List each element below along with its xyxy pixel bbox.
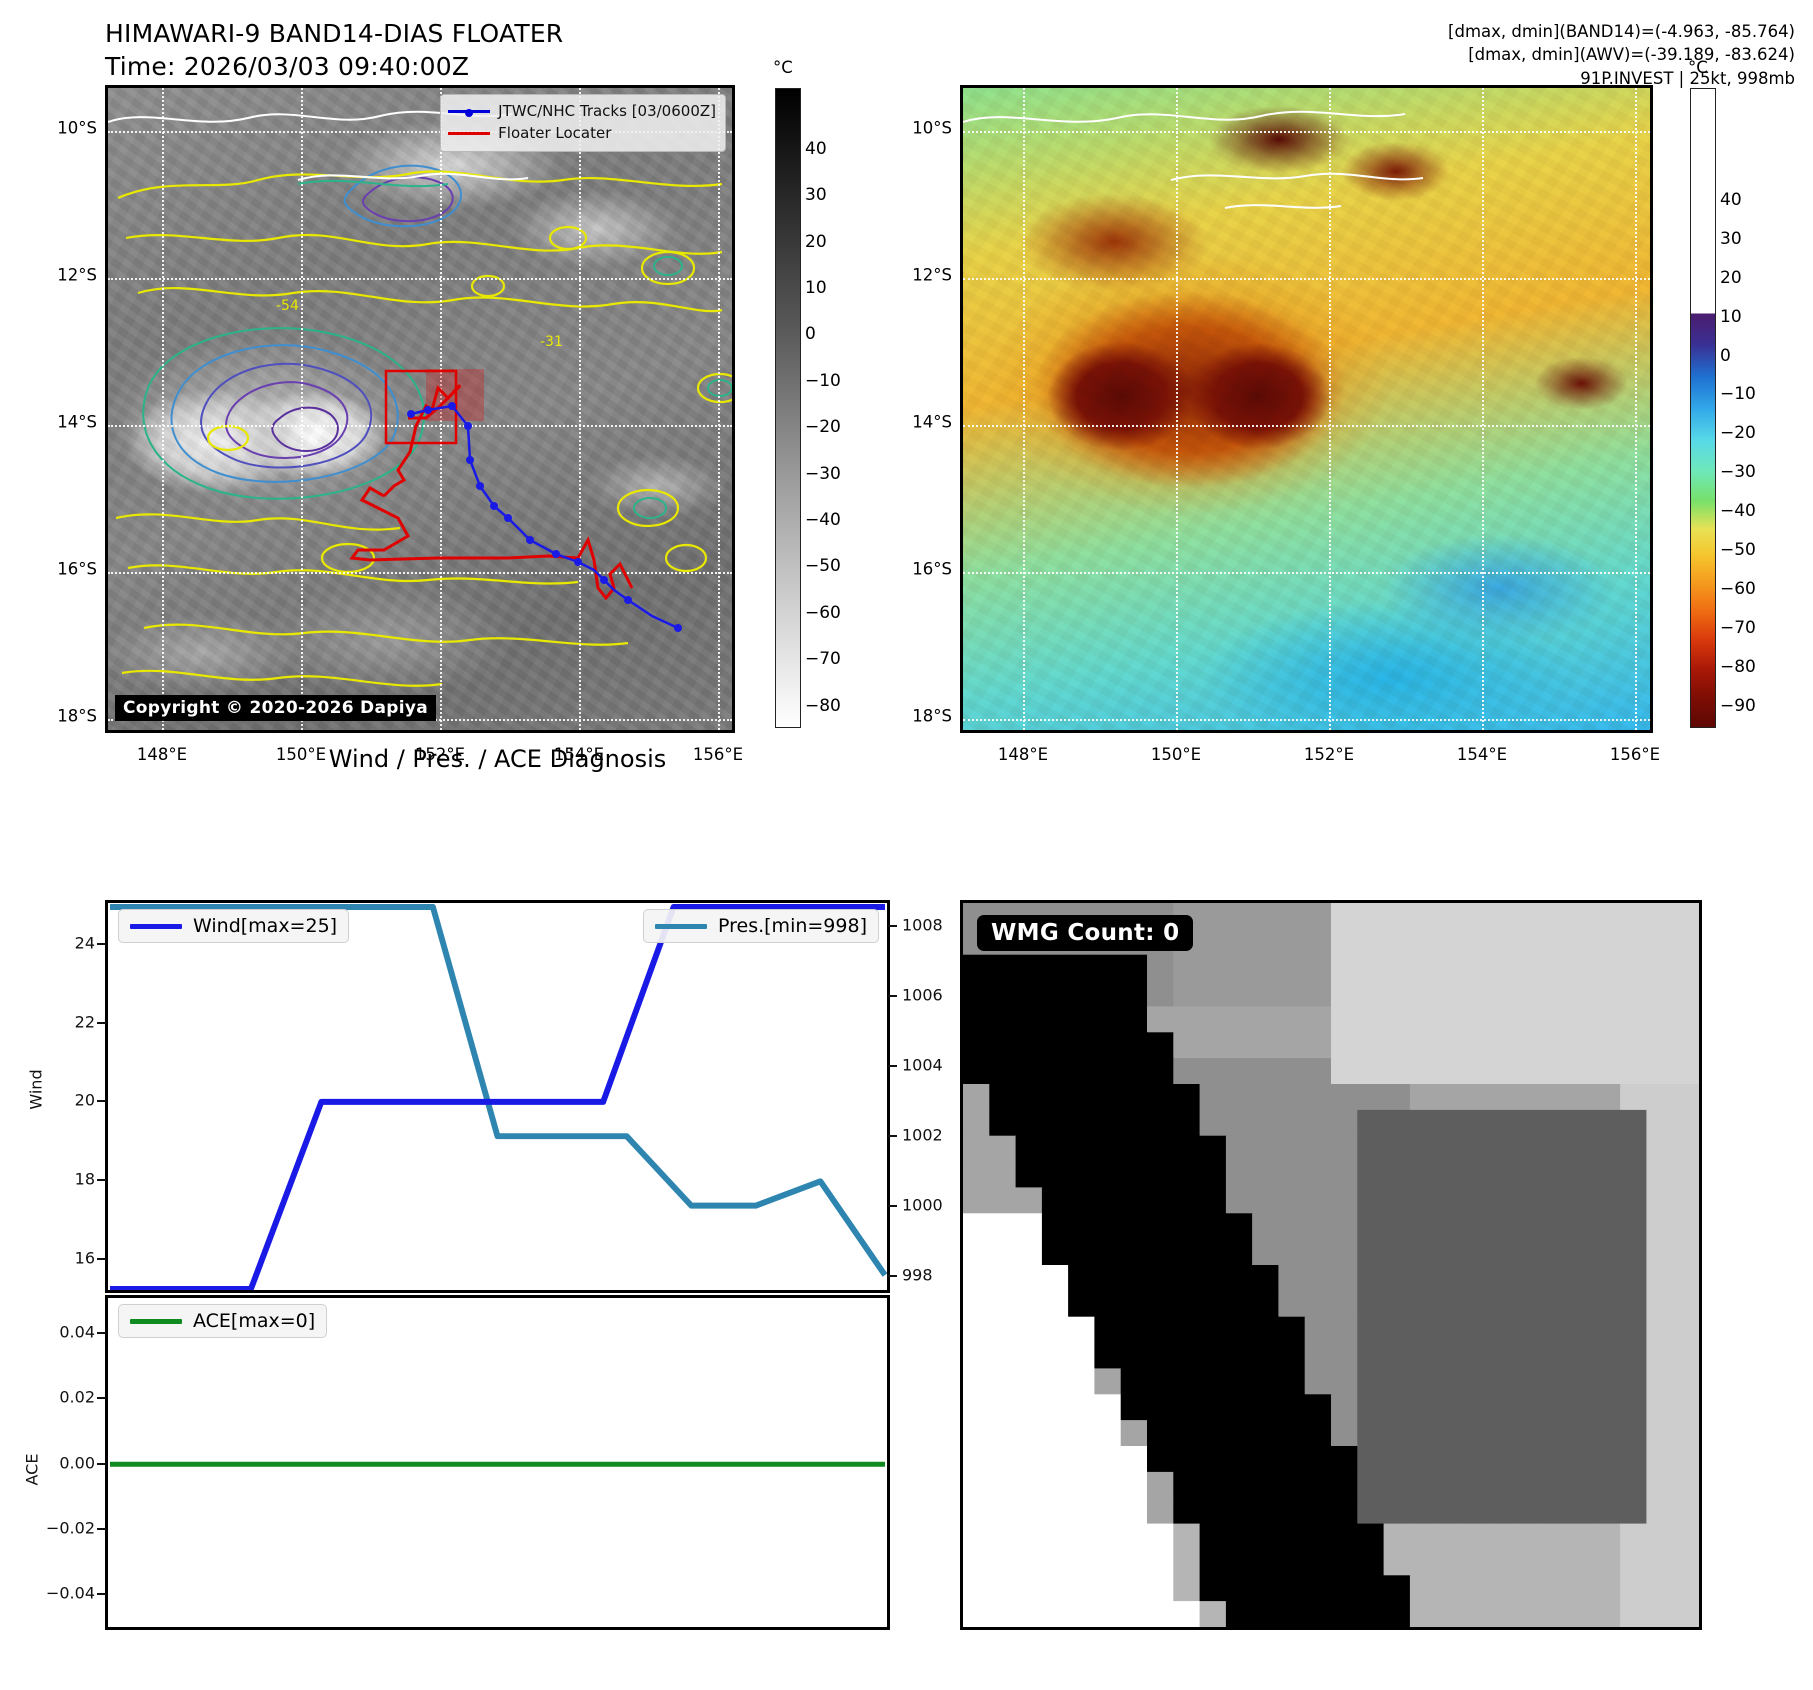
wmg-cell	[1541, 1498, 1568, 1525]
wmg-cell	[1646, 1162, 1673, 1189]
wmg-cell	[1541, 1394, 1568, 1421]
legend-label-tracks: JTWC/NHC Tracks [03/0600Z]	[498, 101, 716, 123]
wmg-cell	[1594, 1110, 1621, 1137]
wmg-cell	[1094, 1239, 1121, 1266]
wmg-cell	[1541, 1239, 1568, 1266]
wmg-cell	[1620, 1317, 1647, 1344]
pressure-tickmark	[888, 1275, 897, 1277]
wmg-cell	[1410, 1136, 1437, 1163]
wmg-cell	[1305, 1239, 1332, 1266]
ace-tickmark	[97, 1397, 106, 1399]
wmg-cell	[1305, 1549, 1332, 1576]
wmg-panel[interactable]: WMG Count: 0	[960, 900, 1702, 1630]
ace-plot[interactable]: ACE[max=0]	[105, 1295, 890, 1630]
track-legend: JTWC/NHC Tracks [03/0600Z] Floater Locat…	[440, 94, 726, 152]
awv-lon-label-4: 156°E	[1610, 745, 1660, 764]
wmg-cell	[1357, 1058, 1384, 1085]
wind-line-icon	[130, 924, 182, 929]
wmg-cell	[1594, 1394, 1621, 1421]
wmg-cell	[1620, 1446, 1647, 1473]
wmg-cell	[1094, 1575, 1121, 1602]
wmg-cell	[1541, 981, 1568, 1008]
wmg-cell	[1673, 1110, 1699, 1137]
wmg-cell	[1357, 1032, 1384, 1059]
wmg-cell	[989, 1420, 1016, 1447]
colorbar-tick: 10	[805, 278, 827, 298]
wmg-cell	[1121, 1368, 1148, 1395]
wmg-cell	[1331, 929, 1358, 956]
wmg-cell	[1410, 1084, 1437, 1111]
copyright-label: Copyright © 2020-2026 Dapiya	[115, 695, 436, 721]
wmg-cell	[1620, 1472, 1647, 1499]
wmg-cell	[1410, 903, 1437, 930]
wmg-cell	[1462, 1032, 1489, 1059]
wmg-cell	[1462, 1291, 1489, 1318]
wmg-cell	[1357, 955, 1384, 982]
wmg-cell	[1278, 1524, 1305, 1551]
blue-track-line-icon	[448, 110, 490, 113]
wmg-cell	[1515, 955, 1542, 982]
wmg-cell	[1384, 903, 1411, 930]
wmg-cell	[989, 1213, 1016, 1240]
wmg-cell	[1094, 955, 1121, 982]
wmg-cell	[1042, 1472, 1069, 1499]
wmg-cell	[1515, 1058, 1542, 1085]
wmg-cell	[1200, 1058, 1227, 1085]
wmg-cell	[1489, 1368, 1516, 1395]
wmg-cell	[1252, 1110, 1279, 1137]
wmg-cell	[963, 1032, 990, 1059]
pressure-tick-label: 1000	[902, 1196, 943, 1215]
wmg-cell	[1384, 1394, 1411, 1421]
wmg-cell	[1278, 1472, 1305, 1499]
colorbar-tick: −20	[1720, 423, 1756, 443]
wmg-cell	[1068, 1187, 1095, 1214]
wmg-cell	[1121, 1291, 1148, 1318]
wmg-cell	[1331, 1291, 1358, 1318]
wmg-cell	[1094, 1524, 1121, 1551]
wmg-cell	[1094, 1213, 1121, 1240]
wmg-cell	[1147, 1265, 1174, 1292]
wmg-cell	[1357, 1368, 1384, 1395]
wmg-cell	[1305, 1472, 1332, 1499]
wmg-cell	[1252, 1291, 1279, 1318]
wmg-cell	[1252, 955, 1279, 982]
wmg-cell	[1068, 981, 1095, 1008]
wmg-cell	[963, 1084, 990, 1111]
wmg-cell	[1515, 981, 1542, 1008]
wmg-cell	[1673, 1265, 1699, 1292]
wmg-cell	[1646, 1472, 1673, 1499]
awv-gridline-lat-12s	[963, 278, 1650, 280]
wmg-cell	[1620, 1239, 1647, 1266]
wmg-cell	[1094, 1084, 1121, 1111]
wmg-cell	[1147, 1575, 1174, 1602]
colorbar-tick: −70	[1720, 618, 1756, 638]
colorbar-tick: −50	[805, 556, 841, 576]
wmg-cell	[1568, 1446, 1595, 1473]
wmg-cell	[1646, 1549, 1673, 1576]
wmg-cell	[1200, 929, 1227, 956]
wmg-cell	[1173, 1187, 1200, 1214]
wmg-cell	[1226, 1575, 1253, 1602]
wmg-cell	[1384, 1524, 1411, 1551]
wind-tick-label: 18	[20, 1170, 95, 1189]
wmg-cell	[1436, 1006, 1463, 1033]
wmg-cell	[1331, 1265, 1358, 1292]
wmg-cell	[1673, 1291, 1699, 1318]
wmg-cell	[1673, 981, 1699, 1008]
wmg-cell	[1436, 1084, 1463, 1111]
wmg-cell	[1200, 1394, 1227, 1421]
ace-tickmark	[97, 1528, 106, 1530]
wmg-cell	[1357, 929, 1384, 956]
wmg-cell	[1173, 1446, 1200, 1473]
wmg-cell	[1094, 1110, 1121, 1137]
wmg-cell	[1489, 955, 1516, 982]
wmg-cell	[1646, 1575, 1673, 1602]
wmg-cell	[1673, 1162, 1699, 1189]
wmg-cell	[1252, 1343, 1279, 1370]
wmg-cell	[1620, 1368, 1647, 1395]
wmg-cell	[1226, 1032, 1253, 1059]
wmg-cell	[1305, 1058, 1332, 1085]
wmg-cell	[1305, 1162, 1332, 1189]
wmg-cell	[1568, 1368, 1595, 1395]
wmg-cell	[1594, 1136, 1621, 1163]
wmg-cell	[1646, 981, 1673, 1008]
wmg-cell	[1068, 1368, 1095, 1395]
wmg-cell	[1673, 1136, 1699, 1163]
wmg-cell	[1515, 1420, 1542, 1447]
wmg-cell	[989, 1317, 1016, 1344]
wmg-cell	[1384, 1162, 1411, 1189]
wmg-cell	[1042, 1291, 1069, 1318]
colorbar-tick: −10	[805, 371, 841, 391]
wmg-cell	[1200, 1032, 1227, 1059]
wmg-cell	[1278, 1549, 1305, 1576]
wmg-cell	[1042, 1213, 1069, 1240]
wmg-cell	[1226, 1162, 1253, 1189]
wmg-cell	[1094, 1317, 1121, 1344]
wmg-cell	[963, 1213, 990, 1240]
wmg-cell	[963, 1498, 990, 1525]
wmg-cell	[989, 1265, 1016, 1292]
wmg-cell	[1173, 955, 1200, 982]
wmg-cell	[1252, 903, 1279, 930]
wmg-cell	[1462, 1524, 1489, 1551]
ir-lat-label-4: 18°S	[25, 707, 97, 726]
wmg-cell	[1541, 1162, 1568, 1189]
wmg-cell	[1462, 955, 1489, 982]
wmg-cell	[1068, 1394, 1095, 1421]
wmg-cell	[1016, 1498, 1043, 1525]
wmg-cell	[1673, 903, 1699, 930]
wmg-cell	[1620, 1549, 1647, 1576]
wmg-cell	[1016, 1472, 1043, 1499]
wmg-cell	[1515, 1162, 1542, 1189]
wmg-cell	[1568, 1524, 1595, 1551]
awv-lat-label-0: 10°S	[880, 119, 952, 138]
wmg-cell	[1016, 1006, 1043, 1033]
wmg-cell	[1384, 1084, 1411, 1111]
wmg-cell	[1646, 1032, 1673, 1059]
wmg-cell	[1568, 1472, 1595, 1499]
wmg-cell	[1226, 1472, 1253, 1499]
wmg-cell	[1147, 1498, 1174, 1525]
wmg-cell	[1489, 1213, 1516, 1240]
wmg-cell	[1121, 1394, 1148, 1421]
wmg-cell	[1068, 1006, 1095, 1033]
wmg-cell	[1594, 1524, 1621, 1551]
wmg-cell	[1094, 1006, 1121, 1033]
wmg-cell	[1462, 1472, 1489, 1499]
wmg-cell	[1278, 903, 1305, 930]
wmg-cell	[1357, 1006, 1384, 1033]
wmg-cell	[1147, 1317, 1174, 1344]
ace-line	[108, 1298, 887, 1630]
wmg-cell	[1673, 1420, 1699, 1447]
wmg-cell	[1173, 1549, 1200, 1576]
wmg-cell	[1515, 1394, 1542, 1421]
wmg-cell	[1226, 1446, 1253, 1473]
wmg-cell	[1094, 1368, 1121, 1395]
wmg-cell	[1252, 1006, 1279, 1033]
wmg-cell	[1515, 1549, 1542, 1576]
pressure-line-icon	[655, 924, 707, 929]
wmg-count-badge: WMG Count: 0	[977, 915, 1193, 951]
wmg-cell	[1331, 1575, 1358, 1602]
wmg-cell	[1646, 929, 1673, 956]
wmg-cell	[1226, 1317, 1253, 1344]
wmg-cell	[1620, 1213, 1647, 1240]
wmg-cell	[1436, 929, 1463, 956]
wmg-cell	[1594, 1032, 1621, 1059]
wmg-cell	[1462, 903, 1489, 930]
wmg-cell	[1384, 1136, 1411, 1163]
wmg-cell	[1489, 1524, 1516, 1551]
wmg-cell	[1278, 929, 1305, 956]
wmg-cell	[1646, 1239, 1673, 1266]
wmg-cell	[1094, 1394, 1121, 1421]
wmg-cell	[1541, 1213, 1568, 1240]
wmg-cell	[1646, 955, 1673, 982]
wmg-cell	[1410, 1291, 1437, 1318]
wmg-cell	[1673, 1317, 1699, 1344]
wmg-cell	[1042, 1162, 1069, 1189]
wmg-cell	[1515, 1032, 1542, 1059]
wmg-cell	[1200, 1549, 1227, 1576]
wmg-cell	[989, 1549, 1016, 1576]
wmg-cell	[1226, 1084, 1253, 1111]
wmg-cell	[1620, 955, 1647, 982]
wmg-cell	[1568, 1213, 1595, 1240]
wmg-cell	[1462, 1575, 1489, 1602]
wmg-cell	[1305, 981, 1332, 1008]
colorbar-tick: 40	[1720, 190, 1742, 210]
wmg-cell	[1331, 981, 1358, 1008]
wmg-cell	[1173, 1601, 1200, 1627]
wmg-cell	[1620, 1006, 1647, 1033]
wmg-cell	[1147, 1420, 1174, 1447]
wmg-cell	[1278, 1084, 1305, 1111]
wmg-cell	[1489, 1575, 1516, 1602]
wmg-cell	[1173, 981, 1200, 1008]
wmg-cell	[1568, 1239, 1595, 1266]
wmg-cell	[1068, 1601, 1095, 1627]
colorbar-tick: −60	[1720, 579, 1756, 599]
wmg-cell	[1042, 1420, 1069, 1447]
wind-pressure-plot[interactable]: Wind[max=25] Pres.[min=998]	[105, 900, 890, 1293]
wmg-cell	[1462, 1006, 1489, 1033]
wmg-cell	[1646, 1394, 1673, 1421]
wind-axis-title: Wind	[27, 1069, 46, 1109]
awv-gridline-lat-10s	[963, 131, 1650, 133]
wmg-cell	[1226, 1213, 1253, 1240]
enhanced-ir-panel[interactable]	[960, 85, 1653, 733]
wmg-cell	[1252, 1368, 1279, 1395]
wmg-cell	[1173, 1213, 1200, 1240]
wmg-cell	[1568, 981, 1595, 1008]
wmg-cell	[1620, 1084, 1647, 1111]
wmg-cell	[1305, 1006, 1332, 1033]
wmg-cell	[1436, 1446, 1463, 1473]
wmg-cell	[1568, 1601, 1595, 1627]
wmg-cell	[1331, 1394, 1358, 1421]
wmg-cell	[1016, 1549, 1043, 1576]
wmg-cell	[1541, 1317, 1568, 1344]
wmg-cell	[1147, 1187, 1174, 1214]
wmg-cell	[1226, 1136, 1253, 1163]
wind-legend-label: Wind[max=25]	[193, 915, 337, 937]
wmg-cell	[1357, 1162, 1384, 1189]
wmg-cell	[1568, 1110, 1595, 1137]
wmg-cell	[1042, 1006, 1069, 1033]
wmg-cell	[1462, 1110, 1489, 1137]
wind-tickmark	[97, 943, 106, 945]
wmg-cell	[1410, 1213, 1437, 1240]
wmg-cell	[1278, 1239, 1305, 1266]
wmg-cell	[1489, 1187, 1516, 1214]
ir-satellite-panel[interactable]: -54 -31	[105, 85, 735, 733]
colorbar-tick: −70	[805, 649, 841, 669]
pressure-tick-label: 998	[902, 1266, 933, 1285]
wmg-cell	[1331, 1136, 1358, 1163]
wmg-cell	[989, 1291, 1016, 1318]
wmg-cell	[963, 1524, 990, 1551]
wmg-cell	[1489, 1549, 1516, 1576]
wmg-cell	[1673, 1575, 1699, 1602]
wmg-cell	[1568, 1549, 1595, 1576]
wmg-cell	[1410, 1239, 1437, 1266]
wmg-cell	[963, 1472, 990, 1499]
wmg-cell	[1121, 955, 1148, 982]
wmg-cell	[1173, 1239, 1200, 1266]
colorbar-tick: 0	[805, 324, 816, 344]
wind-tick-label: 22	[20, 1012, 95, 1031]
wmg-cell	[1620, 1420, 1647, 1447]
wmg-cell	[1016, 1343, 1043, 1370]
wmg-cell	[1646, 1265, 1673, 1292]
wmg-cell	[1121, 1136, 1148, 1163]
wmg-cell	[1331, 1420, 1358, 1447]
wmg-cell	[1094, 1265, 1121, 1292]
wind-tickmark	[97, 1179, 106, 1181]
wmg-cell	[1042, 1549, 1069, 1576]
wmg-cell	[1068, 1549, 1095, 1576]
wmg-cell	[1462, 1084, 1489, 1111]
wmg-cell	[963, 1420, 990, 1447]
wmg-cell	[1226, 1006, 1253, 1033]
wmg-cell	[1094, 1343, 1121, 1370]
wmg-cell	[1568, 1058, 1595, 1085]
wmg-cell	[1594, 1601, 1621, 1627]
page-title: HIMAWARI-9 BAND14-DIAS FLOATER	[105, 18, 563, 51]
wmg-cell	[1200, 1136, 1227, 1163]
wmg-cell	[1173, 1162, 1200, 1189]
wmg-cell	[1384, 1058, 1411, 1085]
wmg-cell	[963, 1446, 990, 1473]
red-floater-line-icon	[448, 132, 490, 135]
wmg-cell	[1410, 1162, 1437, 1189]
wmg-cell	[1620, 1265, 1647, 1292]
wmg-cell	[1147, 981, 1174, 1008]
wmg-cell	[1594, 1187, 1621, 1214]
wmg-cell	[1541, 1446, 1568, 1473]
wmg-cell	[1252, 1162, 1279, 1189]
wmg-cell	[1094, 981, 1121, 1008]
wmg-cell	[963, 1058, 990, 1085]
colorbar-tick: −40	[1720, 501, 1756, 521]
wmg-cell	[1042, 1187, 1069, 1214]
wmg-cell	[1462, 1162, 1489, 1189]
awv-lat-label-3: 16°S	[880, 560, 952, 579]
wmg-cell	[1121, 1549, 1148, 1576]
awv-lon-label-1: 150°E	[1151, 745, 1201, 764]
wmg-cell	[1173, 1343, 1200, 1370]
wmg-cell	[989, 1575, 1016, 1602]
wmg-cell	[1594, 1549, 1621, 1576]
wmg-cell	[963, 1006, 990, 1033]
wmg-cell	[1462, 1265, 1489, 1292]
wmg-cell	[1252, 1058, 1279, 1085]
wmg-cell	[1384, 1239, 1411, 1266]
wmg-cell	[1541, 1420, 1568, 1447]
wmg-cell	[1357, 1498, 1384, 1525]
wmg-cell	[1042, 1136, 1069, 1163]
awv-gridline-lat-18s	[963, 719, 1650, 721]
wmg-cell	[1489, 981, 1516, 1008]
wmg-cell	[1200, 1317, 1227, 1344]
wmg-cell	[1489, 1058, 1516, 1085]
wmg-cell	[1121, 1575, 1148, 1602]
wmg-cell	[1121, 1472, 1148, 1499]
wmg-cell	[1541, 1032, 1568, 1059]
wmg-cell	[1226, 1601, 1253, 1627]
wmg-cell	[1200, 1420, 1227, 1447]
wmg-cell	[1594, 929, 1621, 956]
wmg-cell	[1252, 1032, 1279, 1059]
wmg-cell	[1357, 1136, 1384, 1163]
track-overlay	[108, 88, 732, 730]
wmg-cell	[1200, 903, 1227, 930]
wmg-cell	[1278, 1187, 1305, 1214]
wmg-cell	[1357, 1239, 1384, 1266]
awv-gridline-lat-14s	[963, 425, 1650, 427]
wmg-cell	[1410, 1343, 1437, 1370]
wmg-cell	[1331, 1187, 1358, 1214]
wmg-cell	[1173, 1498, 1200, 1525]
